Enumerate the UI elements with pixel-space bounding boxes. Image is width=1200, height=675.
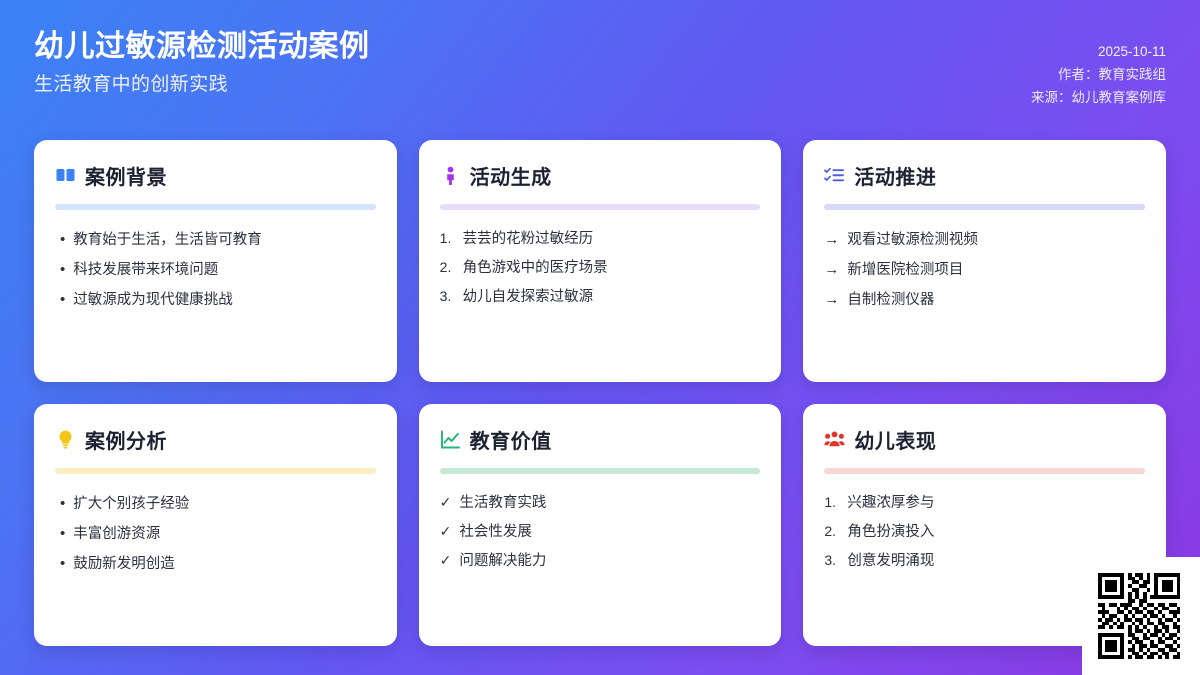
- list-marker: 2.: [824, 521, 839, 543]
- list-item[interactable]: 2.角色扮演投入: [824, 517, 1145, 546]
- card-title: 幼儿表现: [854, 425, 936, 454]
- list-item[interactable]: •丰富创游资源: [55, 518, 376, 548]
- list-item[interactable]: →观看过敏源检测视频: [824, 224, 1145, 254]
- list-marker: ✓: [440, 550, 452, 572]
- list-item-label: 芸芸的花粉过敏经历: [463, 228, 594, 250]
- list-item[interactable]: •过敏源成为现代健康挑战: [55, 285, 376, 315]
- list-marker: 1.: [440, 228, 455, 250]
- list-item[interactable]: 3.幼儿自发探索过敏源: [440, 283, 761, 312]
- list-marker: →: [824, 288, 839, 311]
- card-divider: [55, 468, 376, 474]
- list-marker: •: [55, 258, 65, 281]
- chart-line-icon: [440, 429, 461, 450]
- people-group-icon: [824, 429, 845, 450]
- header-meta: 2025-10-11 作者：教育实践组 来源：幼儿教育案例库: [1031, 26, 1166, 110]
- card-activity-progress[interactable]: 活动推进→观看过敏源检测视频→新增医院检测项目→自制检测仪器: [803, 140, 1166, 382]
- list-item-label: 观看过敏源检测视频: [847, 229, 978, 251]
- list-item-label: 自制检测仪器: [847, 289, 934, 311]
- meta-date: 2025-10-11: [1031, 40, 1166, 63]
- list-marker: ✓: [440, 521, 452, 543]
- list-item-label: 扩大个别孩子经验: [73, 493, 189, 515]
- list-item-label: 教育始于生活，生活皆可教育: [73, 229, 262, 251]
- card-header: 案例背景: [55, 160, 376, 190]
- list-marker: 3.: [824, 550, 839, 572]
- list-marker: 1.: [824, 492, 839, 514]
- list-marker: •: [55, 522, 65, 545]
- list-marker: •: [55, 228, 65, 251]
- meta-author: 作者：教育实践组: [1031, 63, 1166, 86]
- card-title: 案例背景: [85, 161, 167, 190]
- card-list: →观看过敏源检测视频→新增医院检测项目→自制检测仪器: [824, 224, 1145, 315]
- card-list: •扩大个别孩子经验•丰富创游资源•鼓励新发明创造: [55, 488, 376, 579]
- list-item-label: 丰富创游资源: [73, 523, 160, 545]
- list-item-label: 鼓励新发明创造: [73, 553, 175, 575]
- list-item-label: 过敏源成为现代健康挑战: [73, 289, 233, 311]
- card-header: 活动推进: [824, 160, 1145, 190]
- meta-source: 来源：幼儿教育案例库: [1031, 86, 1166, 109]
- card-list: ✓生活教育实践✓社会性发展✓问题解决能力: [440, 488, 761, 576]
- child-icon: [440, 165, 461, 186]
- card-header: 教育价值: [440, 424, 761, 454]
- list-item[interactable]: •鼓励新发明创造: [55, 549, 376, 579]
- card-list: •教育始于生活，生活皆可教育•科技发展带来环境问题•过敏源成为现代健康挑战: [55, 224, 376, 315]
- list-item-label: 科技发展带来环境问题: [73, 259, 218, 281]
- list-item-label: 创意发明涌现: [847, 550, 934, 572]
- card-title: 案例分析: [85, 425, 167, 454]
- list-item-label: 兴趣浓厚参与: [847, 492, 934, 514]
- list-item[interactable]: •科技发展带来环境问题: [55, 254, 376, 284]
- card-case-background[interactable]: 案例背景•教育始于生活，生活皆可教育•科技发展带来环境问题•过敏源成为现代健康挑…: [34, 140, 397, 382]
- list-item[interactable]: 2.角色游戏中的医疗场景: [440, 253, 761, 282]
- lightbulb-icon: [55, 429, 76, 450]
- card-case-analysis[interactable]: 案例分析•扩大个别孩子经验•丰富创游资源•鼓励新发明创造: [34, 404, 397, 646]
- list-item[interactable]: ✓问题解决能力: [440, 547, 761, 576]
- list-marker: •: [55, 492, 65, 515]
- card-header: 幼儿表现: [824, 424, 1145, 454]
- card-header: 活动生成: [440, 160, 761, 190]
- qr-code[interactable]: [1094, 569, 1188, 663]
- card-title: 活动生成: [470, 161, 552, 190]
- list-item-label: 幼儿自发探索过敏源: [463, 286, 594, 308]
- card-educational-value[interactable]: 教育价值✓生活教育实践✓社会性发展✓问题解决能力: [419, 404, 782, 646]
- list-marker: 3.: [440, 286, 455, 308]
- list-marker: →: [824, 258, 839, 281]
- slide-header: 幼儿过敏源检测活动案例 生活教育中的创新实践 2025-10-11 作者：教育实…: [0, 0, 1200, 128]
- slide-root: 幼儿过敏源检测活动案例 生活教育中的创新实践 2025-10-11 作者：教育实…: [0, 0, 1200, 675]
- list-item[interactable]: ✓生活教育实践: [440, 488, 761, 517]
- list-item-label: 角色扮演投入: [847, 521, 934, 543]
- list-marker: •: [55, 552, 65, 575]
- list-item-label: 问题解决能力: [459, 550, 546, 572]
- card-list: 1.芸芸的花粉过敏经历2.角色游戏中的医疗场景3.幼儿自发探索过敏源: [440, 224, 761, 312]
- list-item-label: 生活教育实践: [459, 492, 546, 514]
- list-marker: •: [55, 288, 65, 311]
- list-item[interactable]: 1.兴趣浓厚参与: [824, 488, 1145, 517]
- list-item[interactable]: ✓社会性发展: [440, 517, 761, 546]
- card-grid: 案例背景•教育始于生活，生活皆可教育•科技发展带来环境问题•过敏源成为现代健康挑…: [34, 140, 1166, 646]
- list-item-label: 新增医院检测项目: [847, 259, 963, 281]
- qr-code-panel[interactable]: [1082, 557, 1200, 675]
- list-item[interactable]: →新增医院检测项目: [824, 254, 1145, 284]
- list-item[interactable]: 1.芸芸的花粉过敏经历: [440, 224, 761, 253]
- card-divider: [440, 468, 761, 474]
- page-subtitle: 生活教育中的创新实践: [34, 74, 370, 97]
- list-item-label: 社会性发展: [459, 521, 532, 543]
- title-block: 幼儿过敏源检测活动案例 生活教育中的创新实践: [34, 26, 370, 96]
- page-title: 幼儿过敏源检测活动案例: [34, 28, 370, 66]
- card-divider: [824, 204, 1145, 210]
- card-activity-generation[interactable]: 活动生成1.芸芸的花粉过敏经历2.角色游戏中的医疗场景3.幼儿自发探索过敏源: [419, 140, 782, 382]
- list-item[interactable]: →自制检测仪器: [824, 285, 1145, 315]
- qr-module: [1184, 659, 1188, 663]
- card-divider: [440, 204, 761, 210]
- open-book-icon: [55, 165, 76, 186]
- card-title: 活动推进: [854, 161, 936, 190]
- card-divider: [824, 468, 1145, 474]
- list-marker: ✓: [440, 492, 452, 514]
- card-divider: [55, 204, 376, 210]
- list-marker: 2.: [440, 257, 455, 279]
- checklist-icon: [824, 165, 845, 186]
- list-item-label: 角色游戏中的医疗场景: [463, 257, 608, 279]
- card-header: 案例分析: [55, 424, 376, 454]
- card-title: 教育价值: [470, 425, 552, 454]
- list-item[interactable]: •教育始于生活，生活皆可教育: [55, 224, 376, 254]
- list-marker: →: [824, 228, 839, 251]
- list-item[interactable]: •扩大个别孩子经验: [55, 488, 376, 518]
